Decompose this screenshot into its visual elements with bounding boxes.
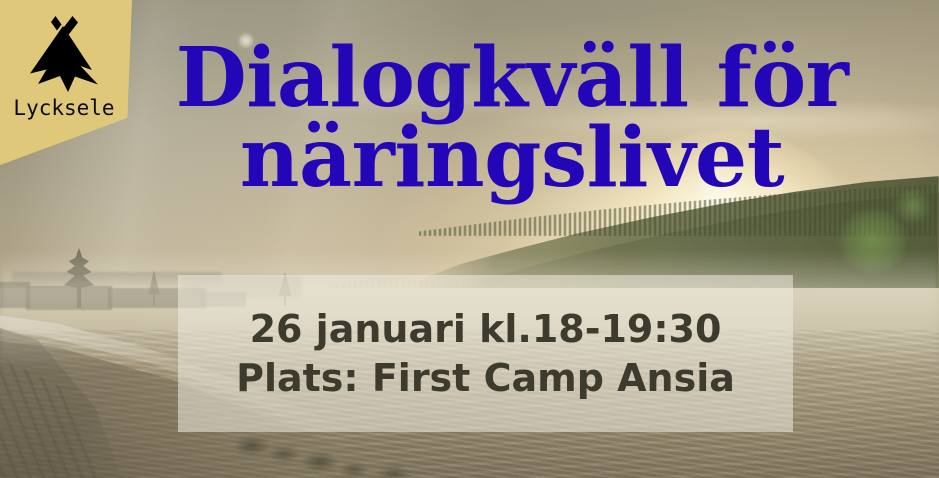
lycksele-wordmark: Lycksele [8, 98, 120, 119]
page-title: Dialogkväll för näringslivet [112, 38, 912, 199]
foreground-snow-clods [236, 432, 436, 478]
page-title-line-1: Dialogkväll för [112, 38, 912, 118]
event-poster: Lycksele Dialogkväll för näringslivet 26… [0, 0, 939, 478]
page-title-line-2: näringslivet [112, 118, 912, 198]
lycksele-tepee-icon [22, 14, 106, 102]
event-location: Plats: First Camp Ansia [236, 357, 735, 400]
event-details-panel: 26 januari kl.18-19:30 Plats: First Camp… [178, 275, 793, 432]
event-datetime: 26 januari kl.18-19:30 [250, 308, 722, 351]
